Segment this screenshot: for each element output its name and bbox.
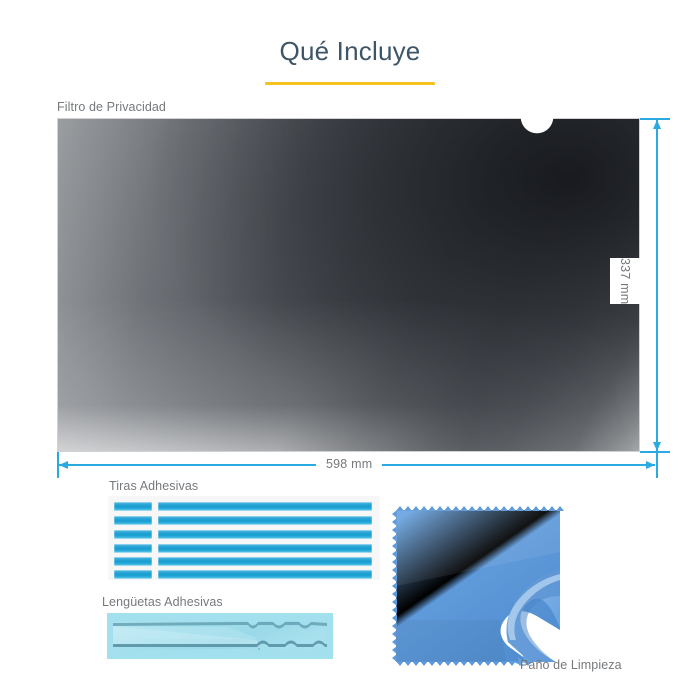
adhesive-tabs-illustration — [107, 613, 333, 659]
cloth-shading-bottom — [396, 620, 506, 662]
screen-sheen-highlight — [58, 119, 639, 451]
label-adhesive-tabs: Lengüetas Adhesivas — [102, 595, 223, 609]
screen-sheen-lower — [58, 298, 639, 451]
adhesive-strip-segment-long — [158, 544, 372, 553]
adhesive-strip-segment-short — [114, 557, 152, 566]
dim-arrow-up — [653, 120, 661, 129]
adhesive-strip-segment-long — [158, 502, 372, 511]
adhesive-strip-row — [108, 557, 380, 566]
webcam-notch-cutout — [521, 101, 553, 133]
adhesive-strip-segment-short — [114, 516, 152, 525]
dim-extension-bottom — [640, 451, 670, 453]
privacy-filter-screen — [57, 118, 640, 452]
adhesive-strip-row — [108, 530, 380, 539]
privacy-filter-surface — [57, 118, 640, 452]
dim-arrow-right — [646, 461, 655, 469]
dim-arrow-down — [653, 442, 661, 451]
page-title: Qué Incluye — [0, 36, 700, 67]
adhesive-strip-segment-long — [158, 570, 372, 579]
cleaning-cloth-illustration — [390, 500, 566, 672]
adhesive-strip-segment-long — [158, 516, 372, 525]
dim-line-height — [656, 120, 658, 451]
dim-value-width: 598 mm — [316, 457, 382, 471]
label-cleaning-cloth: Paño de Limpieza — [520, 658, 622, 672]
adhesive-strips-panel — [108, 496, 380, 580]
adhesive-strip-row — [108, 570, 380, 579]
dim-arrow-left — [59, 461, 68, 469]
adhesive-strip-row — [108, 516, 380, 525]
label-privacy-filter: Filtro de Privacidad — [57, 100, 166, 114]
adhesive-strip-segment-short — [114, 570, 152, 579]
dim-extension-right — [656, 452, 658, 478]
cleaning-cloth — [390, 500, 566, 672]
adhesive-strip-segment-short — [114, 544, 152, 553]
product-contents-diagram: Qué Incluye Filtro de Privacidad 598 mm … — [0, 0, 700, 700]
adhesive-strip-segment-long — [158, 557, 372, 566]
dim-value-height: 337 mm — [610, 258, 640, 304]
adhesive-tabs-panel — [107, 613, 333, 659]
label-adhesive-strips: Tiras Adhesivas — [109, 479, 198, 493]
adhesive-strip-row — [108, 544, 380, 553]
adhesive-strip-segment-long — [158, 530, 372, 539]
adhesive-strip-row — [108, 502, 380, 511]
adhesive-strip-segment-short — [114, 530, 152, 539]
tab-notch-dot — [258, 648, 260, 650]
title-underline-rule — [265, 82, 435, 85]
adhesive-strip-segment-short — [114, 502, 152, 511]
